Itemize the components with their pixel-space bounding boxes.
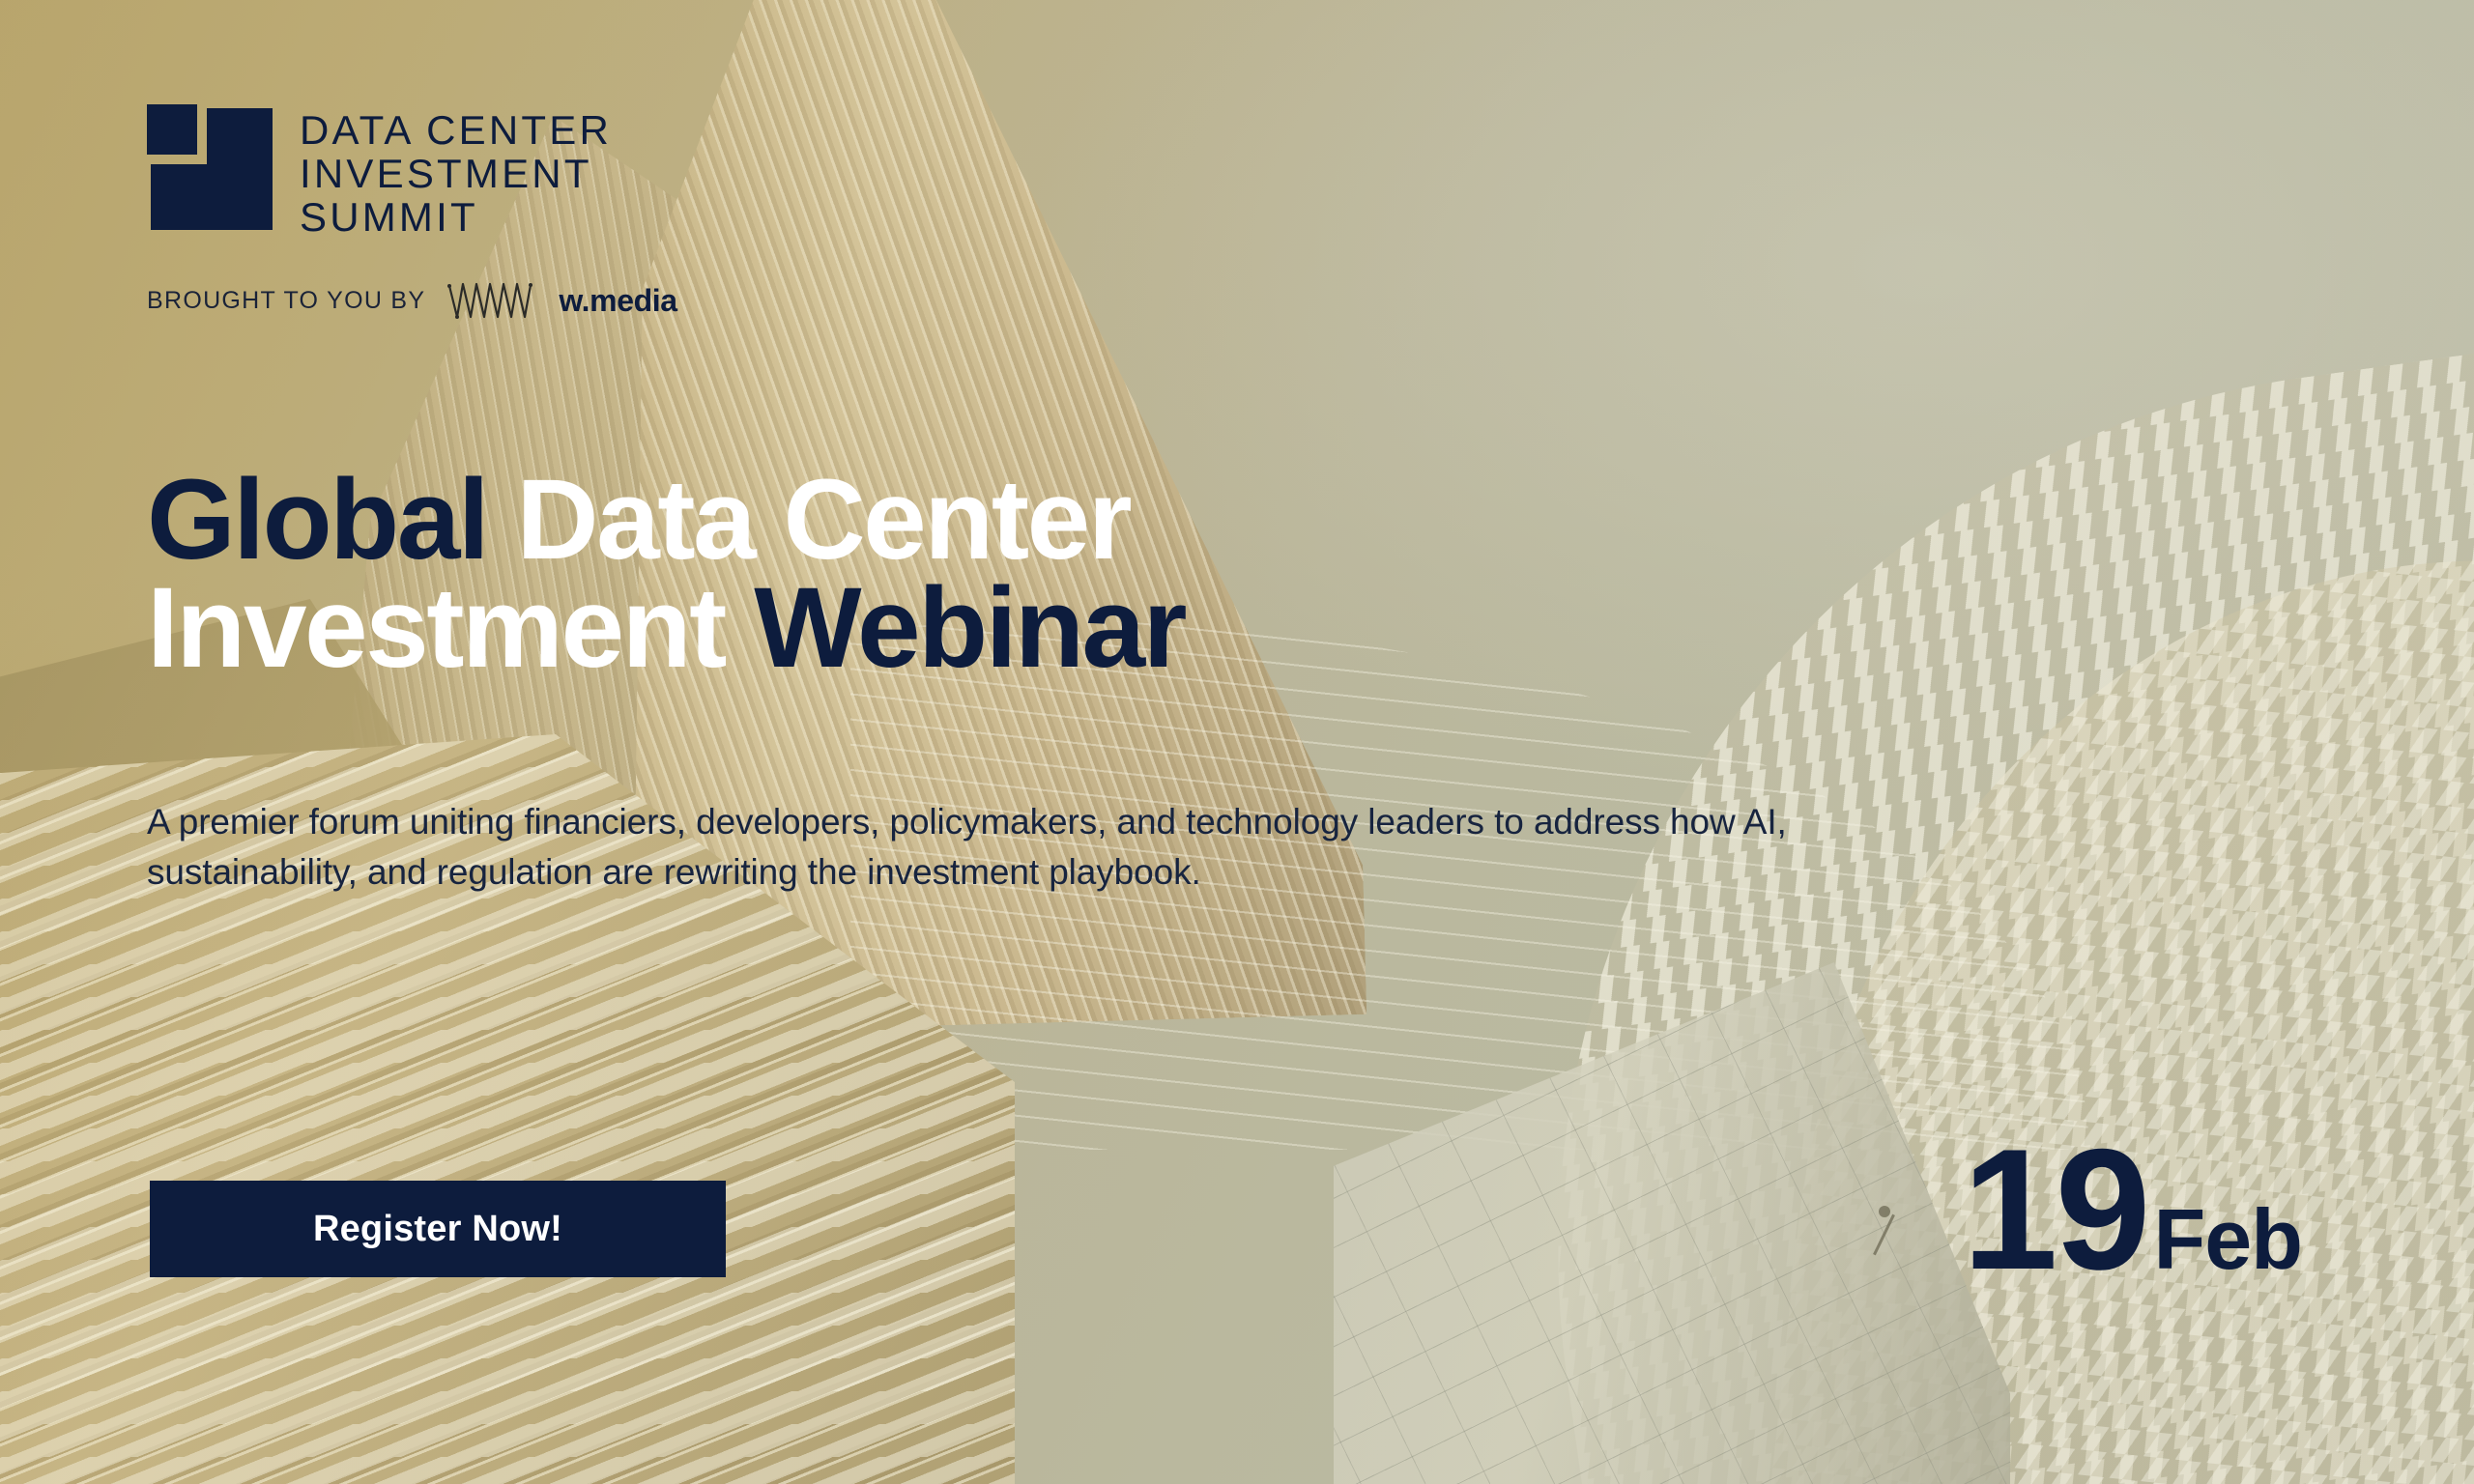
event-date: 19 Feb — [1963, 1137, 2302, 1312]
subtitle-text: A premier forum uniting financiers, deve… — [147, 797, 1906, 898]
brought-to-you-by-label: BROUGHT TO YOU BY — [147, 287, 425, 315]
logo-line-2: INVESTMENT — [300, 152, 612, 195]
headline-webinar: Webinar — [754, 564, 1185, 692]
event-date-month: Feb — [2154, 1167, 2302, 1312]
event-date-day: 19 — [1963, 1137, 2148, 1282]
headline-investment: Investment — [147, 564, 754, 692]
summit-logo-wordmark: DATA CENTER INVESTMENT SUMMIT — [300, 104, 612, 239]
wmedia-squiggle-icon — [446, 280, 547, 321]
event-banner: DATA CENTER INVESTMENT SUMMIT BROUGHT TO… — [0, 0, 2474, 1484]
wmedia-wordmark: w.media — [559, 283, 676, 319]
summit-logo-squares-icon — [147, 104, 273, 230]
logo-lockup[interactable]: DATA CENTER INVESTMENT SUMMIT — [147, 104, 612, 239]
brought-to-you-by-row: BROUGHT TO YOU BY w.media — [147, 280, 677, 321]
summit-logo-mark-icon — [147, 104, 273, 230]
page-title: Global Data Center Investment Webinar — [147, 466, 1654, 682]
logo-line-3: SUMMIT — [300, 195, 612, 239]
wmedia-logo[interactable]: w.media — [446, 280, 676, 321]
logo-line-1: DATA CENTER — [300, 108, 612, 152]
register-now-button[interactable]: Register Now! — [150, 1181, 726, 1277]
